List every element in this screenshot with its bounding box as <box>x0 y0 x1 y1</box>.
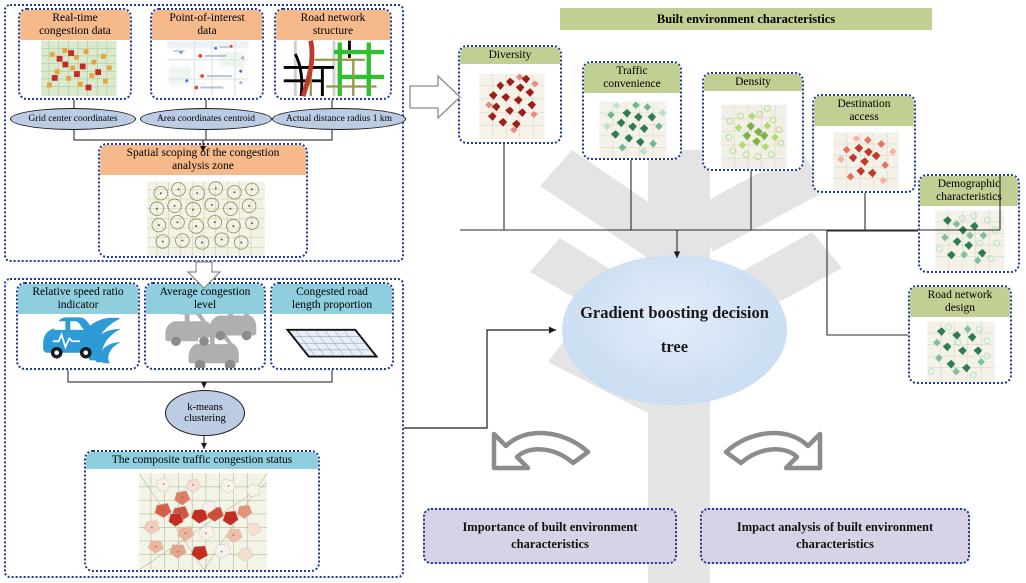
gradient-boosting-model-node: Gradient boosting decisiontree <box>562 255 787 405</box>
diagram-canvas: Real-timecongestion data <box>0 0 1026 583</box>
connector-label-distance-radius: Actual distance radius 1 km <box>286 114 392 125</box>
indicator-label-average-congestion: Average congestionlevel <box>146 284 264 314</box>
be-card-density[interactable]: Density <box>702 72 804 171</box>
indicator-label-congested-length: Congested roadlength proportion <box>272 284 392 314</box>
be-label-diversity: Diversity <box>460 47 560 64</box>
data-source-card-congestion[interactable]: Real-timecongestion data <box>18 8 132 100</box>
spatial-scoping-card[interactable]: Spatial scoping of the congestionanalysi… <box>98 143 308 258</box>
connector-ellipse-area-centroid: Area coordinates centroid <box>140 108 272 130</box>
connector-label-grid-center: Grid center coordinates <box>28 114 117 125</box>
be-card-destination-access[interactable]: Destinationaccess <box>812 94 916 193</box>
result-box-importance[interactable]: Importance of built environmentcharacter… <box>423 508 677 564</box>
connector-ellipse-grid-center: Grid center coordinates <box>10 108 136 130</box>
be-card-demographic[interactable]: Demographiccharacteristics <box>918 174 1020 273</box>
be-label-traffic-convenience: Trafficconvenience <box>584 63 680 93</box>
built-environment-header-label: Built environment characteristics <box>657 12 835 26</box>
data-source-label-congestion: Real-timecongestion data <box>20 10 130 40</box>
data-source-label-poi: Point-of-interestdata <box>152 10 262 40</box>
gradient-boosting-model-label: Gradient boosting decisiontree <box>580 296 769 364</box>
be-label-destination-access: Destinationaccess <box>814 96 914 126</box>
be-label-density: Density <box>704 74 802 91</box>
be-label-road-network-design: Road networkdesign <box>910 287 1010 317</box>
indicator-card-relative-speed[interactable]: Relative speed ratioindicator <box>16 282 140 370</box>
kmeans-clustering-node: k-meansclustering <box>165 390 245 436</box>
block-arrow-right-to-built-environment <box>410 76 460 118</box>
data-source-card-poi[interactable]: Point-of-interestdata <box>150 8 264 100</box>
be-card-diversity[interactable]: Diversity <box>458 45 562 144</box>
result-box-impact[interactable]: Impact analysis of built environmentchar… <box>700 508 970 564</box>
data-source-label-road-network: Road networkstructure <box>276 10 390 40</box>
be-card-road-network-design[interactable]: Road networkdesign <box>908 285 1012 384</box>
indicator-card-congested-length[interactable]: Congested roadlength proportion <box>270 282 394 370</box>
indicator-card-average-congestion[interactable]: Average congestionlevel <box>144 282 266 370</box>
composite-congestion-status-card[interactable]: The composite traffic congestion status <box>84 450 320 572</box>
kmeans-clustering-label: k-meansclustering <box>184 402 225 424</box>
be-card-traffic-convenience[interactable]: Trafficconvenience <box>582 61 682 160</box>
composite-congestion-status-label: The composite traffic congestion status <box>86 452 318 469</box>
connector-ellipse-distance-radius: Actual distance radius 1 km <box>272 108 406 130</box>
curved-block-arrow-right <box>726 433 820 468</box>
curved-block-arrow-left <box>494 433 588 468</box>
result-label-importance: Importance of built environmentcharacter… <box>462 519 637 553</box>
built-environment-header-bar: Built environment characteristics <box>560 8 932 30</box>
indicator-label-relative-speed: Relative speed ratioindicator <box>18 284 138 314</box>
connector-label-area-centroid: Area coordinates centroid <box>157 114 255 125</box>
congestion-status-map-thumbnail <box>86 452 318 570</box>
be-label-demographic: Demographiccharacteristics <box>920 176 1018 206</box>
spatial-scoping-label: Spatial scoping of the congestionanalysi… <box>100 145 306 175</box>
result-label-impact: Impact analysis of built environmentchar… <box>737 519 933 553</box>
data-source-card-road-network[interactable]: Road networkstructure <box>274 8 392 100</box>
